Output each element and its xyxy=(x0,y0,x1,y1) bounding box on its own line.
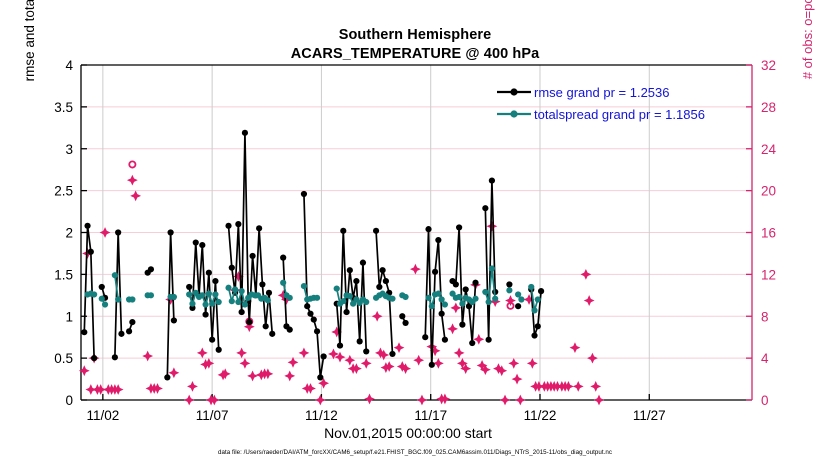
series-point xyxy=(164,374,170,380)
tick-label-x: 11/07 xyxy=(196,408,229,423)
obs-assimilated-marker xyxy=(361,358,372,369)
series-point xyxy=(129,296,135,302)
legend-marker-1 xyxy=(510,110,517,117)
obs-assimilated-marker xyxy=(315,395,326,406)
series-point xyxy=(186,284,192,290)
obs-assimilated-marker xyxy=(372,311,383,322)
series-point xyxy=(115,296,121,302)
series-point xyxy=(463,286,469,292)
tick-label-y-right: 20 xyxy=(761,184,776,199)
series-point xyxy=(535,323,541,329)
tick-label-y-left: 1 xyxy=(65,309,73,324)
series-point xyxy=(91,355,97,361)
series-point xyxy=(482,289,488,295)
series-point xyxy=(425,295,431,301)
obs-assimilated-marker xyxy=(187,381,198,392)
series-point xyxy=(301,283,307,289)
obs-assimilated-marker xyxy=(505,295,516,306)
series-point xyxy=(265,297,271,303)
tick-label-y-right: 24 xyxy=(761,142,777,157)
tick-label-y-left: 1.5 xyxy=(54,267,73,282)
series-point xyxy=(115,229,121,235)
obs-assimilated-marker xyxy=(197,347,208,358)
series-point xyxy=(531,307,537,313)
tick-label-x: 11/27 xyxy=(633,408,666,423)
legend-label-1: totalspread grand pr = 1.1856 xyxy=(534,107,705,122)
obs-assimilated-marker xyxy=(394,342,405,353)
series-point xyxy=(357,338,363,344)
tick-label-y-right: 0 xyxy=(761,393,769,408)
obs-assimilated-marker xyxy=(508,358,519,369)
series-point xyxy=(489,177,495,183)
series-point xyxy=(422,334,428,340)
series-point xyxy=(363,299,369,305)
series-point xyxy=(506,281,512,287)
series-point xyxy=(199,242,205,248)
series-point xyxy=(235,221,241,227)
obs-assimilated-marker xyxy=(100,227,111,238)
obs-assimilated-marker xyxy=(142,351,153,362)
series-point xyxy=(353,278,359,284)
legend-label-0: rmse grand pr = 1.2536 xyxy=(534,85,670,100)
series-point xyxy=(287,327,293,333)
series-point xyxy=(239,288,245,294)
obs-assimilated-marker xyxy=(454,347,465,358)
series-point xyxy=(239,309,245,315)
series-point xyxy=(528,284,534,290)
series-point xyxy=(492,296,498,302)
series-point xyxy=(506,287,512,293)
tick-label-y-left: 3.5 xyxy=(54,100,73,115)
obs-assimilated-marker xyxy=(127,175,138,186)
series-point xyxy=(486,299,492,305)
series-point xyxy=(206,270,212,276)
series-point xyxy=(435,237,441,243)
series-point xyxy=(489,265,495,271)
series-point xyxy=(472,280,478,286)
tick-label-y-right: 4 xyxy=(761,351,769,366)
tick-label-x: 11/12 xyxy=(305,408,338,423)
series-point xyxy=(88,249,94,255)
tick-label-y-left: 0 xyxy=(65,393,73,408)
series-point xyxy=(334,286,340,292)
series-point xyxy=(99,284,105,290)
series-point xyxy=(148,292,154,298)
series-point xyxy=(453,281,459,287)
obs-assimilated-marker xyxy=(236,347,247,358)
series-point xyxy=(389,351,395,357)
obs-assimilated-marker xyxy=(410,264,421,275)
series-point xyxy=(209,301,215,307)
series-point xyxy=(442,301,448,307)
series-point xyxy=(129,319,135,325)
series-point xyxy=(280,255,286,261)
tick-label-y-right: 8 xyxy=(761,309,769,324)
series-point xyxy=(112,354,118,360)
series-point xyxy=(515,303,521,309)
series-point xyxy=(425,226,431,232)
series-point xyxy=(429,303,435,309)
tick-label-y-left: 0.5 xyxy=(54,351,73,366)
series-point xyxy=(193,239,199,245)
series-point xyxy=(91,291,97,297)
tick-label-y-left: 2 xyxy=(65,226,73,241)
series-line xyxy=(337,231,367,352)
obs-possible-marker xyxy=(129,161,135,167)
obs-assimilated-marker xyxy=(487,221,498,232)
obs-assimilated-marker xyxy=(584,295,595,306)
series-line xyxy=(167,233,174,378)
series-point xyxy=(337,342,343,348)
tick-label-y-right: 16 xyxy=(761,226,776,241)
obs-assimilated-marker xyxy=(364,394,375,405)
series-point xyxy=(171,317,177,323)
obs-assimilated-marker xyxy=(220,368,231,379)
series-point xyxy=(202,311,208,317)
series-point xyxy=(469,340,475,346)
obs-assimilated-marker xyxy=(580,269,591,280)
plot-canvas: 00.511.522.533.5404812162024283211/0211/… xyxy=(0,0,830,470)
series-point xyxy=(186,291,192,297)
series-point xyxy=(126,328,132,334)
obs-assimilated-marker xyxy=(184,395,195,406)
series-point xyxy=(199,292,205,298)
series-point xyxy=(486,337,492,343)
series-point xyxy=(363,348,369,354)
obs-assimilated-marker xyxy=(417,395,428,406)
series-point xyxy=(373,228,379,234)
series-point xyxy=(482,205,488,211)
obs-assimilated-marker xyxy=(587,353,598,364)
series-point xyxy=(84,223,90,229)
series-line xyxy=(229,133,273,334)
series-point xyxy=(301,191,307,197)
series-point xyxy=(538,288,544,294)
obs-assimilated-marker xyxy=(447,323,458,334)
series-point xyxy=(459,322,465,328)
series-point xyxy=(246,319,252,325)
obs-assimilated-marker xyxy=(299,347,310,358)
tick-label-x: 11/17 xyxy=(414,408,447,423)
series-point xyxy=(314,328,320,334)
series-point xyxy=(435,291,441,297)
series-point xyxy=(389,296,395,302)
obs-assimilated-marker xyxy=(247,371,258,382)
obs-assimilated-marker xyxy=(130,190,141,201)
series-point xyxy=(376,284,382,290)
series-point xyxy=(266,290,272,296)
series-point xyxy=(304,303,310,309)
obs-assimilated-marker xyxy=(240,358,251,369)
series-point xyxy=(206,291,212,297)
series-point xyxy=(202,301,208,307)
series-point xyxy=(518,296,524,302)
series-point xyxy=(229,298,235,304)
series-point xyxy=(242,301,248,307)
tick-label-x: 11/02 xyxy=(86,408,119,423)
series-point xyxy=(235,299,241,305)
obs-assimilated-marker xyxy=(590,381,601,392)
obs-assimilated-marker xyxy=(284,371,295,382)
series-point xyxy=(459,301,465,307)
series-point xyxy=(263,323,269,329)
series-point xyxy=(360,260,366,266)
series-point xyxy=(383,278,389,284)
series-point xyxy=(472,296,478,302)
series-point xyxy=(317,374,323,380)
series-point xyxy=(343,309,349,315)
obs-assimilated-marker xyxy=(573,381,584,392)
series-point xyxy=(347,267,353,273)
series-point xyxy=(229,265,235,271)
series-point xyxy=(456,224,462,230)
series-point xyxy=(168,229,174,235)
series-point xyxy=(269,331,275,337)
series-point xyxy=(171,294,177,300)
series-point xyxy=(81,329,87,335)
series-point xyxy=(321,353,327,359)
tick-label-y-left: 3 xyxy=(65,142,73,157)
series-point xyxy=(439,311,445,317)
series-point xyxy=(287,295,293,301)
series-point xyxy=(216,347,222,353)
obs-assimilated-marker xyxy=(570,342,581,353)
series-point xyxy=(249,253,255,259)
series-point xyxy=(209,337,215,343)
obs-assimilated-marker xyxy=(413,355,424,366)
series-point xyxy=(456,294,462,300)
tick-label-y-right: 32 xyxy=(761,58,776,73)
series-point xyxy=(242,130,248,136)
series-point xyxy=(340,228,346,234)
obs-assimilated-marker xyxy=(433,358,444,369)
series-point xyxy=(212,291,218,297)
series-point xyxy=(347,293,353,299)
series-point xyxy=(102,301,108,307)
series-point xyxy=(118,331,124,337)
tick-label-y-left: 2.5 xyxy=(54,184,73,199)
series-point xyxy=(531,332,537,338)
series-point xyxy=(442,337,448,343)
series-point xyxy=(380,267,386,273)
series-point xyxy=(256,225,262,231)
series-point xyxy=(148,266,154,272)
obs-assimilated-marker xyxy=(500,395,511,406)
tick-label-y-right: 12 xyxy=(761,267,776,282)
series-point xyxy=(399,313,405,319)
series-point xyxy=(232,286,238,292)
legend-marker-0 xyxy=(510,88,517,95)
series-point xyxy=(99,296,105,302)
tick-label-x: 11/22 xyxy=(524,408,557,423)
obs-assimilated-marker xyxy=(527,358,538,369)
series-point xyxy=(112,272,118,278)
obs-assimilated-marker xyxy=(344,355,355,366)
tick-label-y-left: 4 xyxy=(65,58,73,73)
series-point xyxy=(259,281,265,287)
chart-page: Southern Hemisphere ACARS_TEMPERATURE @ … xyxy=(0,0,830,470)
obs-assimilated-marker xyxy=(594,395,605,406)
series-point xyxy=(280,280,286,286)
obs-assimilated-marker xyxy=(515,395,526,406)
series-point xyxy=(340,298,346,304)
series-point xyxy=(429,362,435,368)
series-point xyxy=(225,285,231,291)
series-point xyxy=(402,294,408,300)
series-point xyxy=(216,299,222,305)
series-point xyxy=(314,295,320,301)
series-point xyxy=(225,223,231,229)
series-point xyxy=(402,320,408,326)
series-point xyxy=(212,278,218,284)
tick-label-y-right: 28 xyxy=(761,100,776,115)
series-point xyxy=(189,301,195,307)
series-point xyxy=(307,311,313,317)
series-point xyxy=(432,269,438,275)
series-point xyxy=(535,296,541,302)
obs-assimilated-marker xyxy=(512,374,523,385)
series-point xyxy=(311,317,317,323)
